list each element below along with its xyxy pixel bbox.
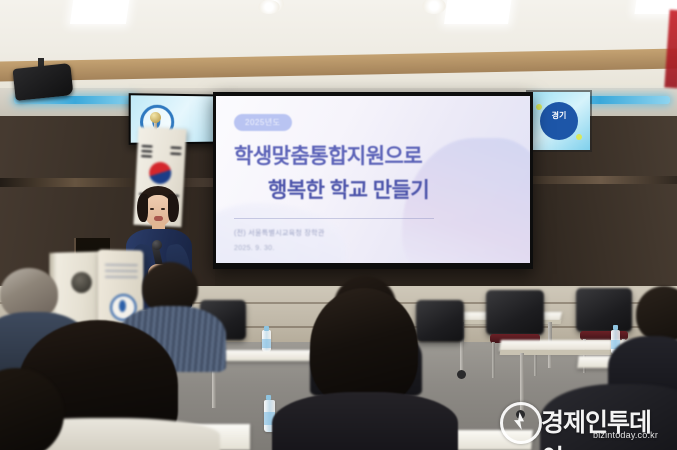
chair	[486, 290, 544, 335]
slide-year-badge: 2025년도	[234, 114, 292, 131]
table-caster	[457, 370, 466, 379]
presenter-hair-side	[137, 194, 148, 222]
presenter-eye	[150, 208, 154, 210]
ceiling-projector	[12, 63, 73, 101]
slide-title-line2: 행복한 학교 만들기	[268, 174, 512, 204]
presenter-mouth	[154, 216, 163, 221]
chair	[416, 300, 464, 342]
wall-trim-right	[524, 176, 677, 184]
ceiling-wood-beam	[0, 48, 677, 81]
bottle-cap	[613, 325, 618, 330]
slide-divider	[234, 218, 434, 219]
slide-subtitle: (전) 서울특별시교육청 장학관	[234, 228, 512, 238]
emblem-label: 경기	[540, 111, 578, 120]
slide-date: 2025. 9. 30.	[234, 245, 512, 252]
ceiling-downlight	[258, 0, 280, 14]
table-caster	[516, 410, 525, 419]
audience-shoulders	[272, 392, 458, 450]
bottle-label	[262, 339, 271, 348]
ceiling-light-panel	[444, 0, 512, 24]
chair-leg	[492, 342, 495, 378]
trigram-bar	[171, 147, 182, 150]
audience-head	[310, 288, 418, 406]
ceiling-light-panel	[70, 0, 130, 24]
presenter-eye	[161, 208, 165, 210]
decor-dot	[576, 134, 582, 140]
podium-speaker-hole	[71, 272, 92, 293]
podium-text-block	[105, 264, 137, 278]
microphone-head	[152, 240, 162, 250]
slide-title-line1: 학생맞춤통합지원으로	[234, 140, 512, 170]
ceiling-downlight	[422, 0, 446, 14]
bottle-cap	[264, 326, 269, 331]
projection-screen: 2025년도 학생맞춤통합지원으로 행복한 학교 만들기 (전) 서울특별시교육…	[216, 96, 530, 263]
chair-seat	[580, 331, 628, 340]
trigram-bar	[141, 155, 152, 158]
presenter-hair-side	[168, 194, 179, 222]
photo-scene: 2 경기 2025년도 학생맞춤통합지원으로 행복한 학교 만들기 (전) 서울…	[0, 0, 677, 450]
side-display-right: 경기	[528, 92, 590, 150]
trigram-bar	[170, 153, 181, 156]
projection-screen-frame: 2025년도 학생맞춤통합지원으로 행복한 학교 만들기 (전) 서울특별시교육…	[213, 92, 533, 269]
decor-dot	[536, 104, 542, 110]
trigram-bar	[142, 145, 153, 148]
chair	[576, 288, 632, 332]
audience-shoulders	[540, 384, 677, 450]
audience-head	[636, 286, 677, 342]
table-leg	[520, 353, 524, 413]
trigram-bar	[141, 150, 152, 153]
ceiling	[0, 0, 677, 92]
taeguk-symbol	[149, 161, 172, 184]
flag-pole-finial	[150, 112, 161, 123]
bottle-cap	[266, 395, 271, 400]
education-office-emblem-icon: 경기	[540, 102, 578, 140]
